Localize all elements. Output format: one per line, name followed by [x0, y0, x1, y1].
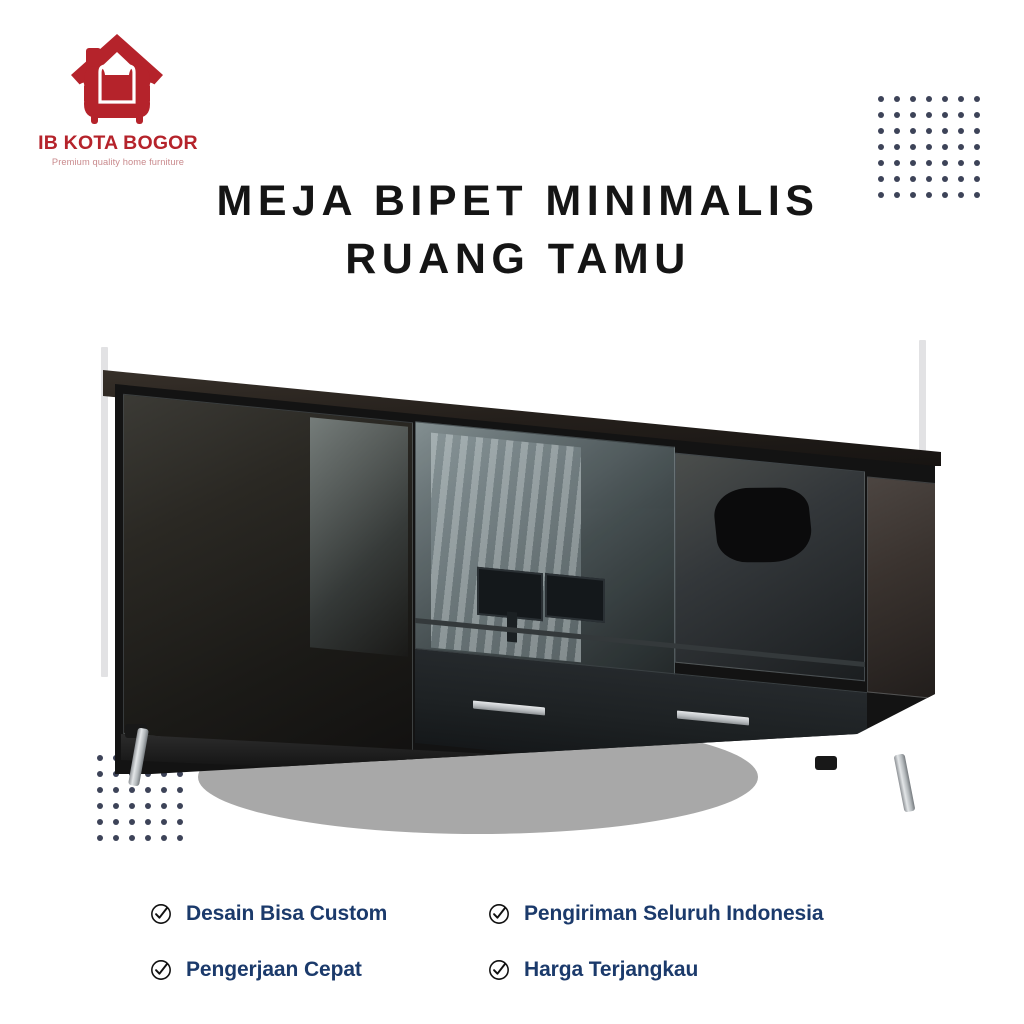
decoration-dot — [878, 192, 884, 198]
decoration-dot — [878, 144, 884, 150]
feature-label: Pengiriman Seluruh Indonesia — [524, 902, 823, 926]
decoration-dot — [958, 144, 964, 150]
decoration-dot — [878, 128, 884, 134]
feature-item-pengerjaan-cepat: Pengerjaan Cepat — [150, 958, 488, 982]
decoration-dot — [878, 96, 884, 102]
decoration-dot — [910, 160, 916, 166]
leg-cap-right — [815, 756, 837, 770]
decoration-dot — [974, 128, 980, 134]
feature-label: Desain Bisa Custom — [186, 902, 387, 926]
brand-logo: IB KOTA BOGOR Premium quality home furni… — [38, 28, 198, 178]
check-circle-icon — [488, 903, 510, 925]
decoration-dot — [942, 112, 948, 118]
product-photo — [85, 340, 945, 860]
feature-list: Desain Bisa Custom Pengiriman Seluruh In… — [150, 886, 930, 998]
decoration-dot — [926, 160, 932, 166]
decoration-dot — [958, 112, 964, 118]
decoration-dot — [910, 112, 916, 118]
house-armchair-icon — [64, 28, 170, 128]
feature-item-harga-terjangkau: Harga Terjangkau — [488, 958, 698, 982]
decoration-dot — [926, 176, 932, 182]
feature-row: Desain Bisa Custom Pengiriman Seluruh In… — [150, 886, 930, 942]
decoration-dot — [958, 160, 964, 166]
brand-tagline: Premium quality home furniture — [38, 157, 198, 167]
decoration-dot — [894, 192, 900, 198]
decoration-dot — [974, 144, 980, 150]
brand-name: IB KOTA BOGOR — [38, 132, 198, 155]
headline-line-2: RUANG TAMU — [178, 230, 858, 288]
decoration-dot — [894, 96, 900, 102]
glass-door-4 — [867, 476, 935, 699]
decoration-dot — [974, 176, 980, 182]
decoration-dot — [878, 112, 884, 118]
decoration-dot — [910, 128, 916, 134]
check-circle-icon — [150, 903, 172, 925]
check-circle-icon — [488, 959, 510, 981]
decoration-dot — [894, 160, 900, 166]
decoration-dot — [942, 96, 948, 102]
dark-object-reflection — [711, 487, 814, 562]
decoration-dot — [926, 128, 932, 134]
decoration-dot — [958, 192, 964, 198]
feature-label: Pengerjaan Cepat — [186, 958, 362, 982]
decoration-dot — [958, 128, 964, 134]
decoration-dot — [958, 96, 964, 102]
decoration-dot — [910, 144, 916, 150]
decoration-dot — [942, 160, 948, 166]
decoration-dot — [910, 96, 916, 102]
feature-label: Harga Terjangkau — [524, 958, 698, 982]
decoration-dot — [878, 160, 884, 166]
decoration-dot — [878, 176, 884, 182]
page-title: MEJA BIPET MINIMALISRUANG TAMU — [178, 172, 858, 288]
cabinet-illustration — [103, 356, 943, 776]
dot-grid-decoration-top-right — [878, 96, 990, 192]
feature-row: Pengerjaan Cepat Harga Terjangkau — [150, 942, 930, 998]
decoration-dot — [926, 96, 932, 102]
decoration-dot — [958, 176, 964, 182]
decoration-dot — [894, 128, 900, 134]
decoration-dot — [926, 192, 932, 198]
decoration-dot — [942, 176, 948, 182]
headline-line-1: MEJA BIPET MINIMALIS — [217, 177, 820, 225]
decoration-dot — [942, 128, 948, 134]
cabinet-leg-right — [894, 753, 916, 812]
decoration-dot — [910, 192, 916, 198]
decoration-dot — [942, 144, 948, 150]
decoration-dot — [926, 144, 932, 150]
check-circle-icon — [150, 959, 172, 981]
monitor-reflection-b — [545, 573, 605, 623]
decoration-dot — [942, 192, 948, 198]
decoration-dot — [894, 144, 900, 150]
decoration-dot — [894, 112, 900, 118]
decoration-dot — [974, 192, 980, 198]
decoration-dot — [894, 176, 900, 182]
feature-item-pengiriman-seluruh-indonesia: Pengiriman Seluruh Indonesia — [488, 902, 823, 926]
decoration-dot — [910, 176, 916, 182]
decoration-dot — [974, 160, 980, 166]
feature-item-desain-bisa-custom: Desain Bisa Custom — [150, 902, 488, 926]
decoration-dot — [974, 96, 980, 102]
glass-reflection-1 — [310, 417, 408, 657]
decoration-dot — [926, 112, 932, 118]
decoration-dot — [974, 112, 980, 118]
